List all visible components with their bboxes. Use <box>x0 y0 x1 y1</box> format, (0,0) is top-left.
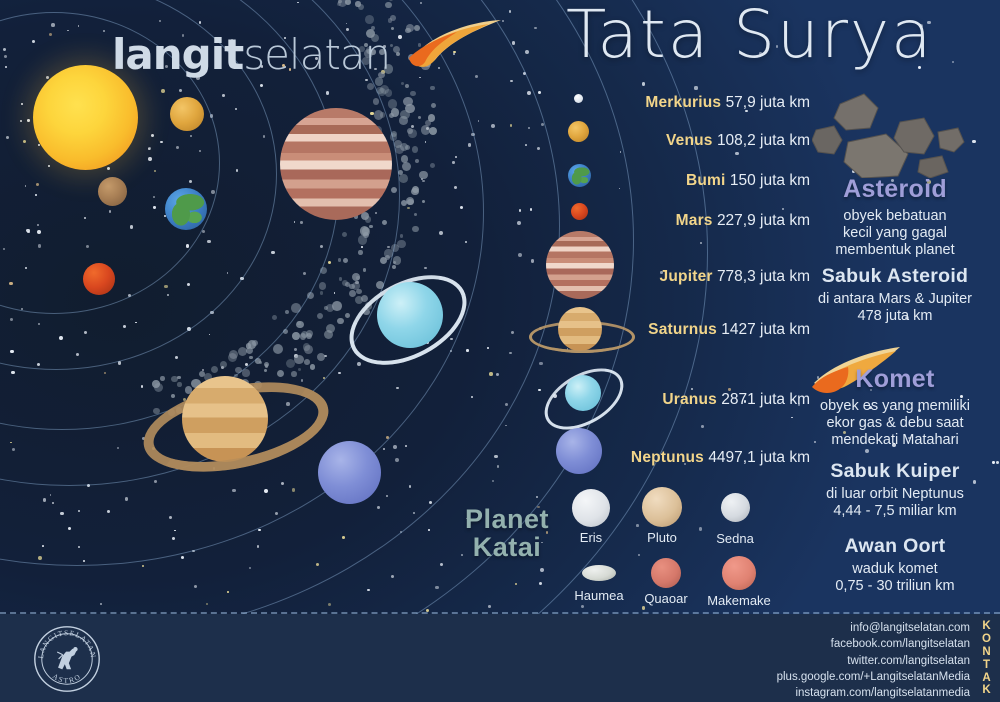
contact-instagram[interactable]: instagram.com/langitselatanmedia <box>777 685 970 701</box>
earth-body <box>165 188 207 230</box>
awan-oort-line-2: 0,75 - 30 triliun km <box>790 578 1000 595</box>
mars-body <box>83 263 115 295</box>
saturn-group <box>130 368 320 488</box>
brand-bold: langit <box>112 30 243 79</box>
kontak-vertical-label: KONTAK <box>978 620 996 697</box>
dwarf-title-line-1: Planet <box>452 505 562 533</box>
dwarf-label: Haumea <box>568 588 630 603</box>
col-uranus-group <box>541 366 623 426</box>
sabuk-kuiper-heading: Sabuk Kuiper <box>790 460 1000 483</box>
haumea-icon <box>582 565 616 581</box>
page-title: Tata Surya <box>566 0 934 73</box>
contact-twitter[interactable]: twitter.com/langitselatan <box>777 653 970 669</box>
sabuk-kuiper-line-1: di luar orbit Neptunus <box>790 486 1000 503</box>
planet-name: Jupiter <box>660 268 713 285</box>
komet-desc: obyek es yang memiliki ekor gas & debu s… <box>790 398 1000 449</box>
awan-oort-info-block: Awan Oort waduk komet 0,75 - 30 triliun … <box>790 535 1000 595</box>
contact-googleplus[interactable]: plus.google.com/+LangitselatanMedia <box>777 669 970 685</box>
planet-name: Saturnus <box>648 321 717 338</box>
planet-distance: 57,9 juta km <box>726 94 810 111</box>
sabuk-kuiper-desc: di luar orbit Neptunus 4,44 - 7,5 miliar… <box>790 486 1000 520</box>
dwarf-planet-makemake: Makemake <box>703 556 775 608</box>
brand-wordmark: langitselatan <box>112 30 390 79</box>
langitselatan-logo: LANGITSELATAN ASTRO <box>32 624 102 694</box>
col-saturn-group <box>529 306 631 362</box>
col-jupiter-icon <box>546 231 614 299</box>
awan-oort-desc: waduk komet 0,75 - 30 triliun km <box>790 561 1000 595</box>
sedna-icon <box>721 493 750 522</box>
jupiter-body <box>280 108 392 220</box>
col-mercury-icon <box>574 94 583 103</box>
komet-desc-line-1: obyek es yang memiliki <box>790 398 1000 415</box>
dwarf-planet-quaoar: Quaoar <box>637 558 695 606</box>
dwarf-planet-sedna: Sedna <box>707 493 763 546</box>
sabuk-asteroid-line-1: di antara Mars & Jupiter <box>790 291 1000 308</box>
makemake-icon <box>722 556 756 590</box>
contact-list: info@langitselatan.com facebook.com/lang… <box>777 620 970 702</box>
asteroid-cluster-illustration <box>812 86 982 178</box>
planet-row: Uranus 2871 juta km <box>662 391 810 409</box>
footer-divider <box>0 612 1000 614</box>
sun-body <box>33 65 138 170</box>
dwarf-label: Sedna <box>707 531 763 546</box>
dwarf-planets-title: Planet Katai <box>452 505 562 562</box>
planet-row: Merkurius 57,9 juta km <box>645 94 810 112</box>
planet-name: Bumi <box>686 172 726 189</box>
komet-info-block: Komet obyek es yang memiliki ekor gas & … <box>790 365 1000 449</box>
col-neptune-icon <box>556 428 602 474</box>
svg-text:ASTRO: ASTRO <box>51 671 83 684</box>
asteroid-desc: obyek bebatuan kecil yang gagal membentu… <box>790 208 1000 259</box>
pluto-icon <box>642 487 682 527</box>
planet-name: Uranus <box>662 391 717 408</box>
dwarf-label: Pluto <box>634 530 690 545</box>
solar-system-infographic: Tata Surya Merkurius 57,9 juta km Venus … <box>0 0 1000 702</box>
planet-row: Jupiter 778,3 juta km <box>660 268 810 286</box>
dwarf-planet-pluto: Pluto <box>634 487 690 545</box>
comet-illustration-left <box>405 18 515 74</box>
planet-name: Venus <box>666 132 713 149</box>
planet-name: Merkurius <box>645 94 721 111</box>
dwarf-title-line-2: Katai <box>452 533 562 561</box>
eris-icon <box>572 489 610 527</box>
brand-light: selatan <box>243 30 390 79</box>
planet-row: Saturnus 1427 juta km <box>648 321 810 339</box>
contact-facebook[interactable]: facebook.com/langitselatan <box>777 636 970 652</box>
sabuk-asteroid-info-block: Sabuk Asteroid di antara Mars & Jupiter … <box>790 265 1000 325</box>
asteroid-desc-line-2: kecil yang gagal <box>790 225 1000 242</box>
col-earth-icon <box>568 164 591 187</box>
planet-distance: 108,2 juta km <box>717 132 810 149</box>
neptune-body <box>318 441 381 504</box>
asteroid-info-block: Asteroid obyek bebatuan kecil yang gagal… <box>790 175 1000 259</box>
planet-name: Mars <box>676 212 713 229</box>
dwarf-label: Makemake <box>703 593 775 608</box>
dwarf-planet-eris: Eris <box>563 489 619 545</box>
sabuk-kuiper-line-2: 4,44 - 7,5 miliar km <box>790 503 1000 520</box>
awan-oort-heading: Awan Oort <box>790 535 1000 558</box>
dwarf-label: Eris <box>563 530 619 545</box>
komet-desc-line-3: mendekati Matahari <box>790 432 1000 449</box>
venus-body <box>170 97 204 131</box>
planet-name: Neptunus <box>631 449 704 466</box>
quaoar-icon <box>651 558 681 588</box>
dwarf-label: Quaoar <box>637 591 695 606</box>
sabuk-kuiper-info-block: Sabuk Kuiper di luar orbit Neptunus 4,44… <box>790 460 1000 520</box>
sabuk-asteroid-line-2: 478 juta km <box>790 308 1000 325</box>
dwarf-planet-haumea: Haumea <box>568 565 630 603</box>
sabuk-asteroid-heading: Sabuk Asteroid <box>790 265 1000 288</box>
col-mars-icon <box>571 203 588 220</box>
asteroid-desc-line-1: obyek bebatuan <box>790 208 1000 225</box>
komet-heading: Komet <box>790 365 1000 394</box>
uranus-group <box>345 268 465 368</box>
awan-oort-line-1: waduk komet <box>790 561 1000 578</box>
planet-row: Neptunus 4497,1 juta km <box>631 449 810 467</box>
komet-desc-line-2: ekor gas & debu saat <box>790 415 1000 432</box>
planet-row: Venus 108,2 juta km <box>666 132 810 150</box>
col-venus-icon <box>568 121 589 142</box>
sabuk-asteroid-desc: di antara Mars & Jupiter 478 juta km <box>790 291 1000 325</box>
mercury-body <box>98 177 127 206</box>
asteroid-desc-line-3: membentuk planet <box>790 242 1000 259</box>
asteroid-heading: Asteroid <box>790 175 1000 204</box>
contact-email[interactable]: info@langitselatan.com <box>777 620 970 636</box>
